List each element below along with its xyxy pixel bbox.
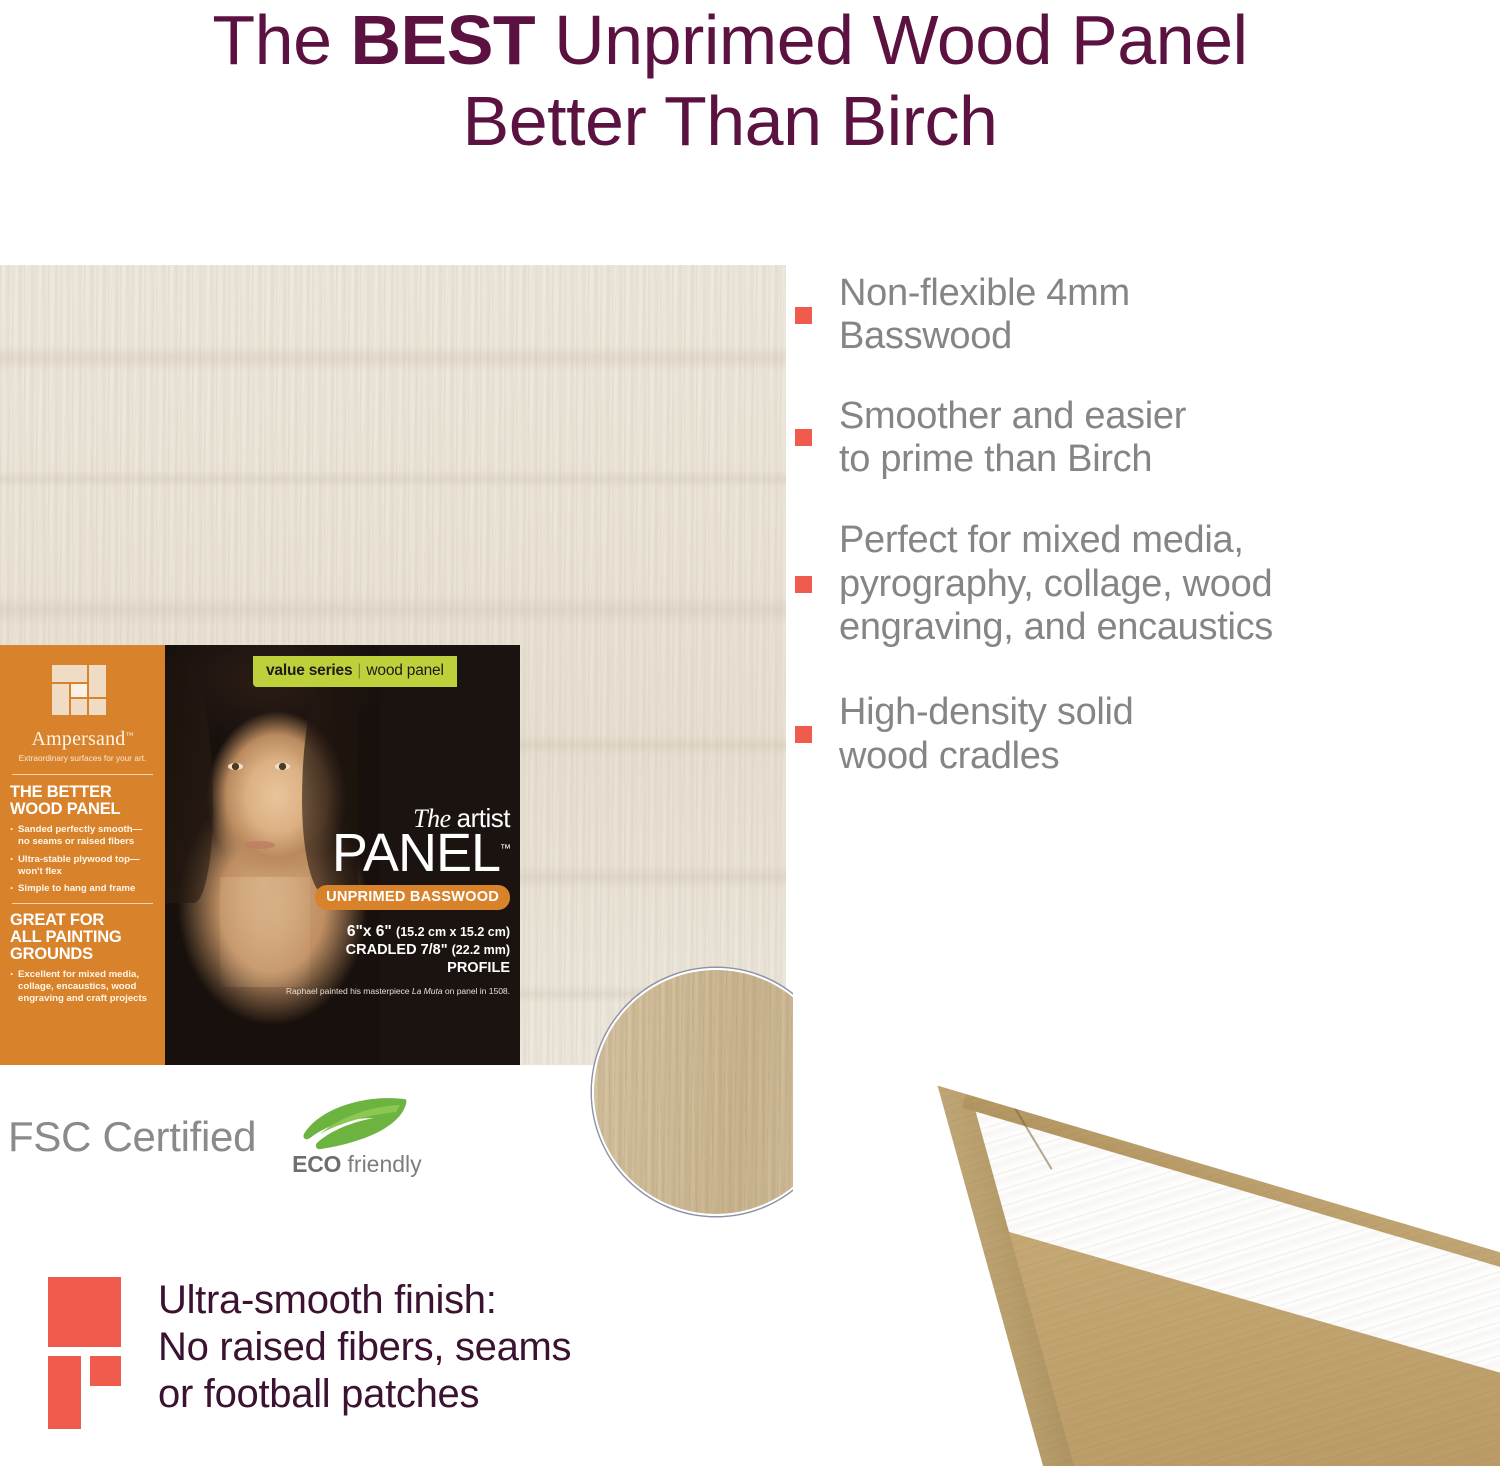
eco-friendly-badge: ECO friendly [292,1096,417,1178]
package-section-1-list: Sanded perfectly smooth—no seams or rais… [10,824,155,894]
product-cradle-profile: CRADLED 7/8" (22.2 mm) PROFILE [280,941,510,977]
list-item: Sanded perfectly smooth—no seams or rais… [10,824,155,848]
product-size: 6"x 6" (15.2 cm x 15.2 cm) [280,922,510,941]
list-item: Non-flexible 4mmBasswood [795,272,1455,359]
divider-rule-2 [12,903,153,904]
page-headline: The BEST Unprimed Wood Panel Better Than… [0,6,1460,157]
headline-line-1: The BEST Unprimed Wood Panel [0,6,1460,75]
package-section-2-list: Excellent for mixed media, collage, enca… [10,969,155,1005]
wood-cradle-corner-photo [793,985,1500,1466]
callout-text: Ultra-smooth finish: No raised fibers, s… [158,1277,571,1419]
footnote-post: on panel in 1508. [443,986,510,996]
headline-pre: The [212,1,350,79]
list-item: Smoother and easierto prime than Birch [795,395,1455,482]
bullet-square-icon [795,576,812,593]
certification-row: FSC Certified ECO friendly [8,1096,417,1178]
profile-label: PROFILE [447,960,510,976]
banner-type-label: wood panel [366,662,443,679]
callout-line-1: Ultra-smooth finish: [158,1277,571,1324]
leaf-icon [292,1096,410,1154]
brand-name-text: Ampersand [31,728,125,750]
list-item: Perfect for mixed media,pyrography, coll… [795,519,1455,649]
bullet-square-icon [795,307,812,324]
package-section-2-title: GREAT FORALL PAINTINGGROUNDS [10,912,155,963]
package-left-orange-panel: Ampersand™ Extraordinary surfaces for yo… [0,645,165,1065]
brand-tagline: Extraordinary surfaces for your art. [10,754,155,763]
headline-bold-best: BEST [350,1,535,79]
bullet-square-icon [795,726,812,743]
banner-series-label: value series [266,662,352,679]
size-imperial: 6"x 6" [347,923,392,940]
value-series-banner: value series|wood panel [253,656,457,687]
callout-line-3: or football patches [158,1371,571,1418]
eco-friendly-text: ECO friendly [292,1151,422,1178]
bullet-square-icon [795,429,812,446]
size-metric: (15.2 cm x 15.2 cm) [396,925,510,939]
eco-bold-text: ECO [292,1151,341,1177]
cradled-imperial: CRADLED 7/8" [346,942,448,958]
package-title-block: The artist PANEL™ UNPRIMED BASSWOOD 6"x … [280,805,510,996]
red-squares-motif-icon [48,1277,130,1447]
list-item: Ultra-stable plywood top—won't flex [10,854,155,878]
bullet-text: High-density solidwood cradles [839,691,1134,778]
callout-line-2: No raised fibers, seams [158,1324,571,1371]
banner-separator: | [357,662,361,679]
package-section-1-title: THE BETTERWOOD PANEL [10,784,155,818]
feature-bullet-list: Non-flexible 4mmBasswood Smoother and ea… [795,272,1455,814]
package-footnote: Raphael painted his masterpiece La Muta … [280,986,510,996]
bullet-text: Smoother and easierto prime than Birch [839,395,1186,482]
divider-rule-1 [12,774,153,775]
package-right-panel: value series|wood panel The artist PANEL… [165,645,520,1065]
list-item: High-density solidwood cradles [795,691,1455,778]
eco-light-text: friendly [348,1151,422,1177]
title-panel-text: PANEL [332,823,500,883]
list-item: Simple to hang and frame [10,883,155,895]
headline-post: Unprimed Wood Panel [535,1,1247,79]
product-package-label: Ampersand™ Extraordinary surfaces for yo… [0,645,520,1065]
panel-trademark: ™ [500,843,510,855]
bullet-text: Perfect for mixed media,pyrography, coll… [839,519,1273,649]
fsc-certified-label: FSC Certified [8,1113,256,1161]
unprimed-basswood-badge: UNPRIMED BASSWOOD [315,885,510,910]
cradled-metric: (22.2 mm) [452,943,510,957]
brand-trademark: ™ [125,730,133,739]
footnote-artwork-name: La Muta [412,986,443,996]
footnote-pre: Raphael painted his masterpiece [286,986,412,996]
bullet-text: Non-flexible 4mmBasswood [839,272,1130,359]
headline-line-2: Better Than Birch [0,87,1460,156]
brand-name: Ampersand™ [10,728,155,751]
product-title-panel: PANEL™ [280,830,510,878]
ultra-smooth-callout: Ultra-smooth finish: No raised fibers, s… [48,1277,571,1447]
list-item: Excellent for mixed media, collage, enca… [10,969,155,1005]
ampersand-logo-icon [52,665,114,723]
